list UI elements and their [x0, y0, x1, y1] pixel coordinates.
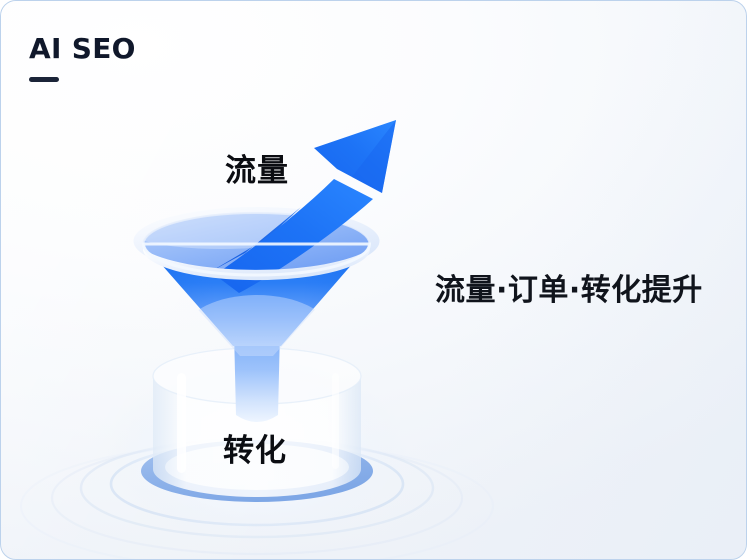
- page-title: AI SEO: [29, 35, 136, 63]
- basin-highlight-right: [332, 373, 339, 469]
- label-conversion: 转化: [223, 436, 287, 467]
- label-traffic: 流量: [225, 156, 289, 187]
- card-header: AI SEO: [29, 35, 136, 82]
- title-underline-accent: [29, 77, 59, 82]
- tagline-text: 流量·订单·转化提升: [435, 276, 703, 306]
- seo-illustration-card: AI SEO: [0, 0, 747, 560]
- basin-highlight-left: [177, 373, 186, 473]
